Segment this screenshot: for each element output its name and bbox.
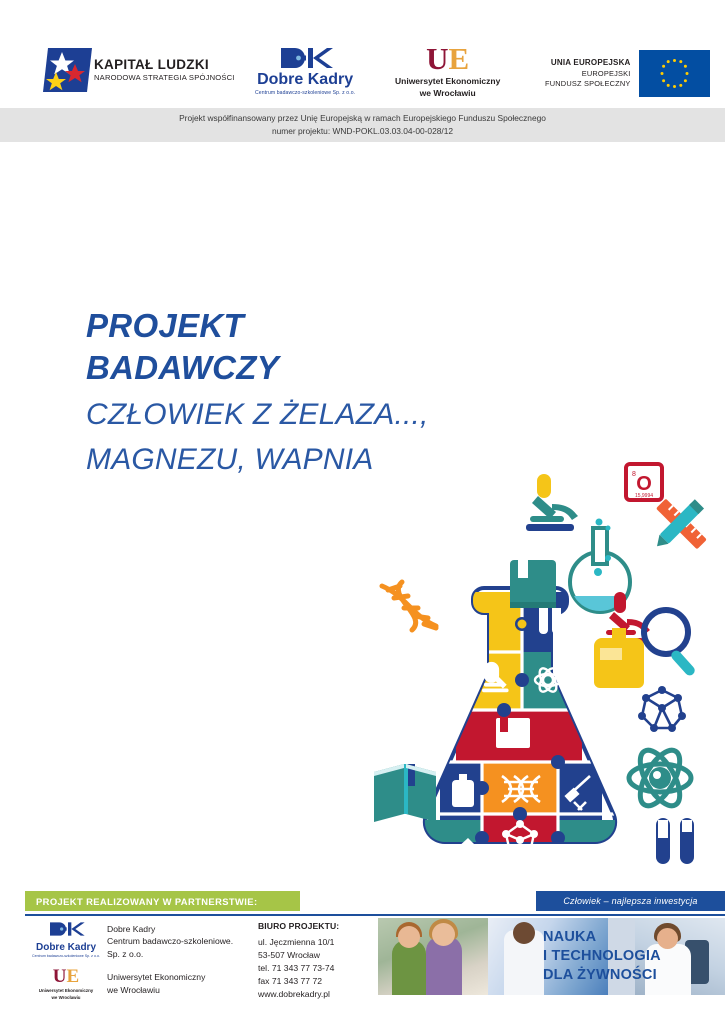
- office-fax: fax 71 343 77 72: [258, 975, 378, 988]
- svg-text:O: O: [576, 874, 588, 878]
- project-funding-banner: Projekt współfinansowany przez Unię Euro…: [0, 108, 725, 142]
- kapital-ludzki-title: KAPITAŁ LUDZKI: [94, 58, 235, 72]
- svg-text:O: O: [636, 473, 652, 495]
- banner-line1: NAUKA: [543, 928, 693, 947]
- test-tubes-icon: [656, 818, 694, 864]
- dobre-kadry-mark-icon: [277, 46, 333, 70]
- footer-dk-name: Dobre Kadry: [25, 942, 107, 954]
- logo-dobre-kadry: Dobre Kadry Centrum badawczo-szkoleniowe…: [255, 46, 355, 96]
- office-city: 53-507 Wrocław: [258, 949, 378, 962]
- footer-dk-line3: Sp. z o.o.: [107, 948, 233, 960]
- open-book-icon: [374, 764, 436, 822]
- footer-ue-mark-icon: U E Uniwersytet Ekonomiczny we Wrocławiu: [25, 969, 107, 1001]
- footer-ue-mark-e: E: [67, 969, 80, 985]
- footer-dk-sub: Centrum badawczo-szkoleniowe Sp. z o.o.: [25, 954, 107, 958]
- funding-line1: Projekt współfinansowany przez Unię Euro…: [179, 112, 546, 125]
- ue-title-line1: Uniwersytet Ekonomiczny: [395, 76, 500, 87]
- document-page: KAPITAŁ LUDZKI NARODOWA STRATEGIA SPÓJNO…: [0, 0, 725, 1024]
- banner-text: NAUKA I TECHNOLOGIA DLA ŻYWNOŚCI: [543, 928, 693, 985]
- logo-kapital-ludzki: KAPITAŁ LUDZKI NARODOWA STRATEGIA SPÓJNO…: [42, 46, 235, 94]
- project-office-block: BIURO PROJEKTU: ul. Jęczmienna 10/1 53-5…: [258, 921, 378, 1001]
- magnifier-icon: [644, 610, 697, 677]
- footer-dk-line1: Dobre Kadry: [107, 923, 233, 935]
- footer-dobre-kadry-mark-icon: Dobre Kadry Centrum badawczo-szkoleniowe…: [25, 921, 107, 958]
- ue-title-line2: we Wrocławiu: [395, 88, 500, 99]
- footer-ue-mark-l1: Uniwersytet Ekonomiczny: [25, 988, 107, 994]
- banner-kids-photo: [378, 918, 494, 995]
- dna-helix-icon: [382, 582, 436, 630]
- ue-mark-u: U: [426, 46, 448, 72]
- ue-mark-e: E: [449, 46, 470, 72]
- svg-text:15,9994: 15,9994: [635, 493, 653, 499]
- logo-uniwersytet-ekonomiczny: U E Uniwersytet Ekonomiczny we Wrocławiu: [395, 46, 500, 99]
- logo-unia-europejska: UNIA EUROPEJSKA EUROPEJSKI FUNDUSZ SPOŁE…: [545, 50, 710, 97]
- svg-text:8: 8: [632, 471, 636, 478]
- eu-line3: FUNDUSZ SPOŁECZNY: [545, 79, 631, 90]
- slogan-text: Człowiek – najlepsza inwestycja: [563, 896, 697, 906]
- footer-ue-line1: Uniwersytet Ekonomiczny: [107, 971, 205, 983]
- partnership-label: PROJEKT REALIZOWANY W PARTNERSTWIE:: [36, 896, 257, 907]
- funding-line2: numer projektu: WND-POKL.03.03.04-00-028…: [272, 125, 453, 138]
- eu-line2: EUROPEJSKI: [545, 69, 631, 80]
- promo-banner-image: NAUKA I TECHNOLOGIA DLA ŻYWNOŚCI: [378, 918, 725, 995]
- footer-divider: [25, 914, 725, 916]
- banner-kid-green: [392, 940, 426, 995]
- footer-dk-line2: Centrum badawczo-szkoleniowe.: [107, 935, 233, 947]
- chemical-bottle-icon: [594, 628, 644, 688]
- footer-ue-line2: we Wrocławiu: [107, 984, 205, 996]
- kapital-ludzki-subtitle: NARODOWA STRATEGIA SPÓJNOŚCI: [94, 74, 235, 82]
- dobre-kadry-title: Dobre Kadry: [257, 71, 353, 89]
- molecule-icon: [638, 686, 686, 732]
- banner-line2: I TECHNOLOGIA: [543, 947, 693, 966]
- eu-flag-icon: [639, 50, 710, 97]
- footer-ue-mark-l2: we Wrocławiu: [25, 995, 107, 1001]
- footer-ue-mark-u: U: [53, 969, 67, 985]
- ruler-pencil-icon: [652, 499, 706, 551]
- banner-kid-purple-head: [432, 923, 455, 946]
- banner-scientist-head: [513, 922, 535, 944]
- office-heading: BIURO PROJEKTU:: [258, 921, 378, 931]
- banner-kid-green-head: [398, 926, 420, 948]
- science-illustration: O 8 O 8 15,9994: [368, 458, 720, 878]
- slogan-bar: Człowiek – najlepsza inwestycja: [536, 891, 725, 911]
- footer-partner-uniwersytet: U E Uniwersytet Ekonomiczny we Wrocławiu…: [25, 969, 255, 1001]
- footer-partner-logos: Dobre Kadry Centrum badawczo-szkoleniowe…: [25, 921, 255, 1010]
- flask-puzzle-graphic-icon: O 8 O 8 15,9994: [368, 458, 720, 878]
- partnership-bar: PROJEKT REALIZOWANY W PARTNERSTWIE:: [25, 891, 300, 911]
- kapital-ludzki-mark-icon: [42, 46, 94, 94]
- title-line-2: BADAWCZY: [86, 347, 516, 389]
- title-line-1: PROJEKT: [86, 305, 516, 347]
- dobre-kadry-subtitle: Centrum badawczo-szkoleniowe Sp. z o.o.: [255, 90, 355, 96]
- ue-mark-icon: U E: [426, 46, 469, 72]
- office-street: ul. Jęczmienna 10/1: [258, 936, 378, 949]
- title-line-3: CZŁOWIEK Z ŻELAZA...,: [86, 395, 516, 434]
- book-icon: [510, 560, 556, 608]
- footer-partner-dobre-kadry: Dobre Kadry Centrum badawczo-szkoleniowe…: [25, 921, 255, 960]
- page-footer: PROJEKT REALIZOWANY W PARTNERSTWIE: Czło…: [0, 888, 725, 1024]
- eu-line1: UNIA EUROPEJSKA: [545, 57, 631, 69]
- page-title: PROJEKT BADAWCZY CZŁOWIEK Z ŻELAZA..., M…: [86, 305, 516, 479]
- header-logo-bar: KAPITAŁ LUDZKI NARODOWA STRATEGIA SPÓJNO…: [0, 22, 725, 92]
- atom-icon: [629, 744, 691, 812]
- banner-line3: DLA ŻYWNOŚCI: [543, 966, 693, 985]
- office-website[interactable]: www.dobrekadry.pl: [258, 988, 378, 1001]
- office-phone: tel. 71 343 77 73-74: [258, 962, 378, 975]
- periodic-element-oxygen-icon: O 8 15,9994: [626, 464, 662, 500]
- microscope-icon: [526, 474, 578, 531]
